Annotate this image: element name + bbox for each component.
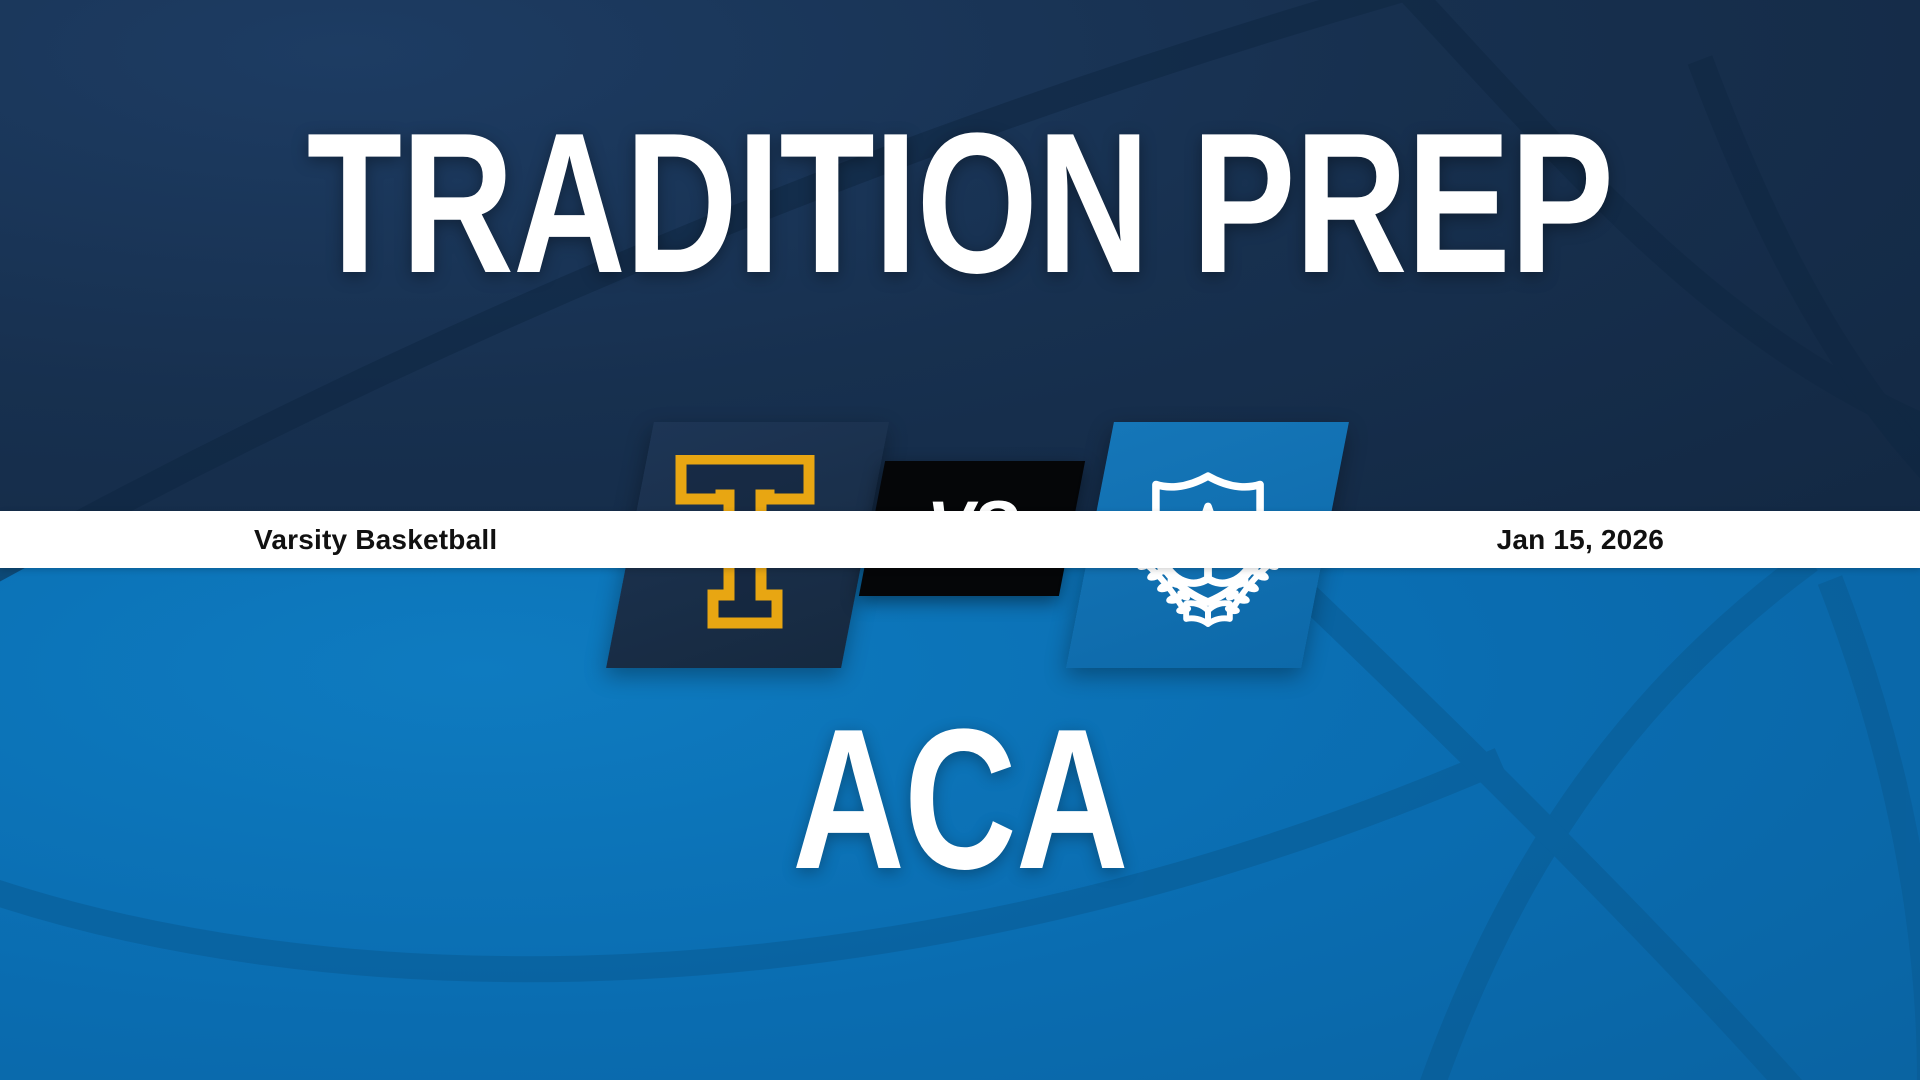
info-banner: Varsity Basketball Jan 15, 2026 [0,511,1920,568]
game-date: Jan 15, 2026 [1497,511,1664,568]
sport-label: Varsity Basketball [254,511,497,568]
matchup-graphic: TRADITION PREP VS [0,0,1920,1080]
open-book [1186,603,1230,624]
opponent-title: ACA [211,700,1709,900]
